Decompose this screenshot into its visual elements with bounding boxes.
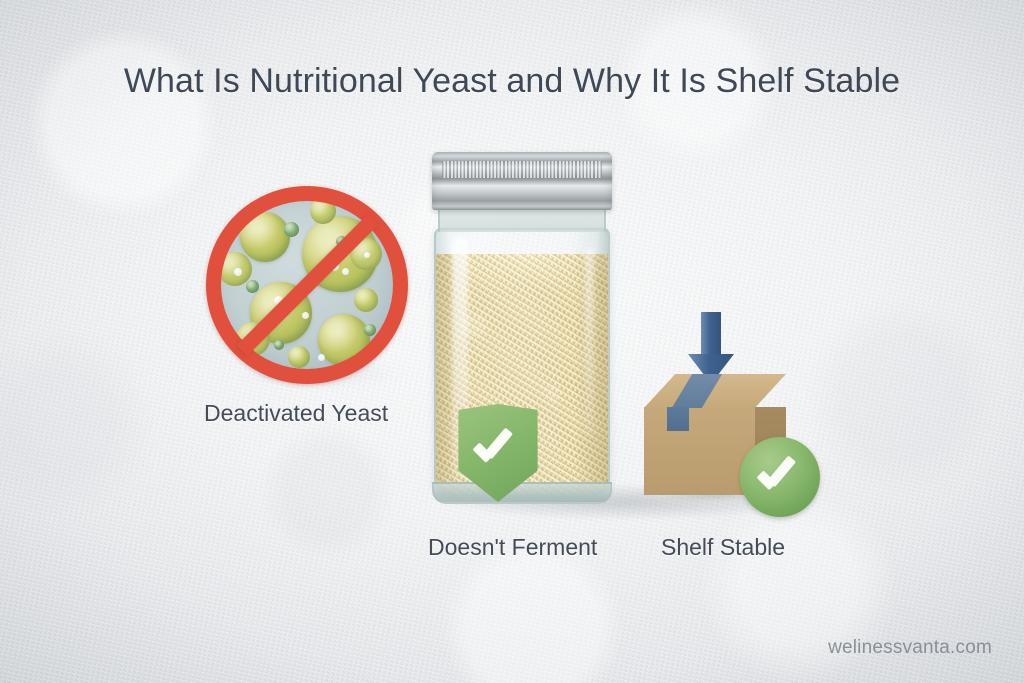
background-vignette — [0, 0, 1024, 683]
infographic-canvas: What Is Nutritional Yeast and Why It Is … — [0, 0, 1024, 683]
